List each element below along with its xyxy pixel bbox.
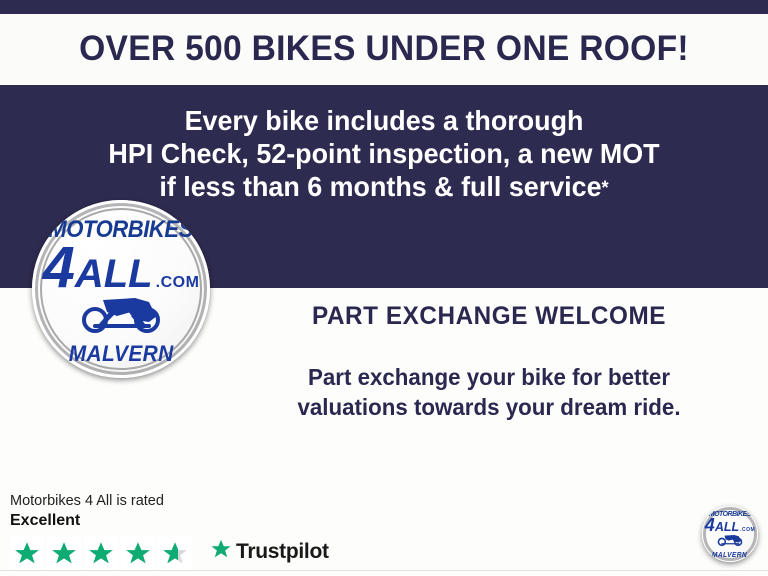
logo-brand-top: MOTORBIKES xyxy=(49,216,194,244)
logo-brand-row: 4 ALL .COM xyxy=(43,244,200,292)
logo-content: MOTORBIKES 4 ALL .COM xyxy=(32,200,210,378)
footer-divider xyxy=(0,570,768,571)
inclusions-line-1: Every bike includes a thorough xyxy=(15,104,752,137)
star-icon xyxy=(121,537,155,571)
dealer-promo-banner: OVER 500 BIKES UNDER ONE ROOF! Every bik… xyxy=(0,0,768,576)
page-title: OVER 500 BIKES UNDER ONE ROOF! xyxy=(15,22,752,76)
brand-logo-badge-mini: MOTORBIKES 4 ALL .COM MALVERN xyxy=(702,506,758,562)
logo-brand-all: ALL xyxy=(75,256,153,292)
logo-location: MALVERN xyxy=(69,341,174,367)
part-exchange-title: PART EXCHANGE WELCOME xyxy=(223,302,755,331)
logo-mini-brand-all: ALL xyxy=(715,522,739,533)
logo-mini-brand-four: 4 xyxy=(705,518,715,533)
logo-mini-location: MALVERN xyxy=(712,552,747,559)
logo-brand-four: 4 xyxy=(43,244,75,292)
part-exchange-body-line-1: Part exchange your bike for better xyxy=(223,362,755,392)
logo-mini-brand-top: MOTORBIKES xyxy=(709,509,751,518)
trustpilot-wordmark: Trustpilot xyxy=(236,540,329,564)
inclusions-line-3-text: if less than 6 months & full service xyxy=(159,171,601,202)
inclusions-line-2: HPI Check, 52-point inspection, a new MO… xyxy=(15,137,752,170)
trustpilot-star-icon xyxy=(210,538,232,565)
logo-mini-brand-row: 4 ALL .COM xyxy=(705,518,755,533)
star-icon xyxy=(84,537,118,571)
part-exchange-body-line-2: valuations towards your dream ride. xyxy=(223,392,755,422)
inclusions-copy: Every bike includes a thorough HPI Check… xyxy=(15,104,752,205)
footnote-asterisk: * xyxy=(602,178,609,199)
logo-brand-domain: .COM xyxy=(156,274,200,292)
star-icon xyxy=(158,537,192,571)
trustpilot-star-rating xyxy=(10,537,192,571)
part-exchange-body: Part exchange your bike for better valua… xyxy=(223,362,755,422)
logo-mini-content: MOTORBIKES 4 ALL .COM MALVERN xyxy=(702,506,758,562)
motorcycle-icon-mini xyxy=(715,533,745,552)
star-icon xyxy=(47,537,81,571)
top-navy-band xyxy=(0,0,768,14)
trustpilot-rated-text: Motorbikes 4 All is rated xyxy=(10,492,192,510)
motorcycle-icon xyxy=(73,292,169,341)
trustpilot-widget[interactable]: Motorbikes 4 All is rated Excellent xyxy=(10,492,192,571)
trustpilot-brand[interactable]: Trustpilot xyxy=(210,538,329,565)
star-icon xyxy=(10,537,44,571)
logo-mini-brand-domain: .COM xyxy=(740,527,755,533)
brand-logo-badge: MOTORBIKES 4 ALL .COM xyxy=(32,200,210,378)
trustpilot-score-label: Excellent xyxy=(10,511,192,531)
